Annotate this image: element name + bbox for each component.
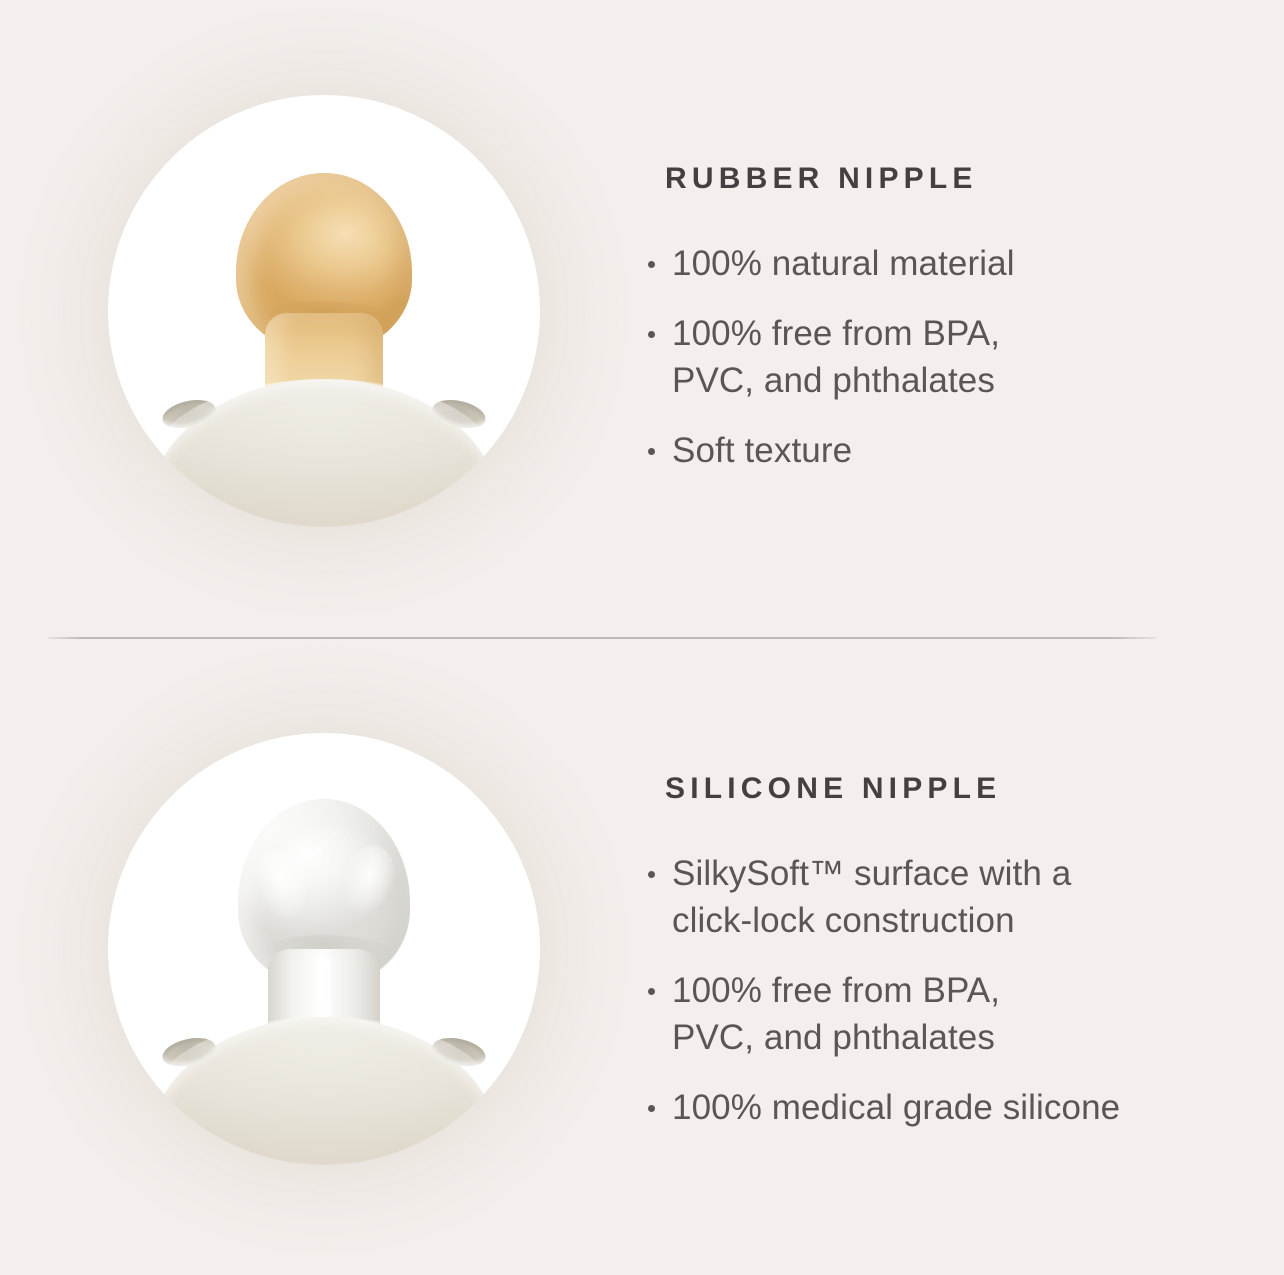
list-item-label: 100% natural material xyxy=(672,240,1222,287)
air-hole-left xyxy=(160,395,218,432)
list-item-label: SilkySoft™ surface with a click-lock con… xyxy=(672,850,1222,944)
list-item-label: 100% free from BPA, PVC, and phthalates xyxy=(672,967,1222,1061)
list-item: SilkySoft™ surface with a click-lock con… xyxy=(642,850,1222,944)
silicone-feature-list: SilkySoft™ surface with a click-lock con… xyxy=(642,850,1222,1131)
silicone-pacifier-photo xyxy=(108,733,540,1165)
list-item: Soft texture xyxy=(642,427,1222,474)
section-silicone-nipple: SILICONE NIPPLE SilkySoft™ surface with … xyxy=(0,638,1284,1275)
rubber-pacifier-photo xyxy=(108,95,540,527)
page-title-silicone: SILICONE NIPPLE xyxy=(665,772,1001,806)
bullet-dot-icon xyxy=(648,988,655,995)
list-item: 100% medical grade silicone xyxy=(642,1084,1222,1131)
section-rubber-nipple: RUBBER NIPPLE 100% natural material 100%… xyxy=(0,0,1284,637)
rubber-feature-list: 100% natural material 100% free from BPA… xyxy=(642,240,1222,474)
product-comparison-page: RUBBER NIPPLE 100% natural material 100%… xyxy=(0,0,1284,1275)
list-item: 100% free from BPA, PVC, and phthalates xyxy=(642,310,1222,404)
page-title-rubber: RUBBER NIPPLE xyxy=(665,162,978,196)
bullet-dot-icon xyxy=(648,448,655,455)
list-item: 100% natural material xyxy=(642,240,1222,287)
bullet-dot-icon xyxy=(648,261,655,268)
pacifier-shield xyxy=(148,379,500,527)
pacifier-shield xyxy=(148,1017,500,1165)
air-hole-right xyxy=(430,1033,488,1070)
list-item: 100% free from BPA, PVC, and phthalates xyxy=(642,967,1222,1061)
bullet-dot-icon xyxy=(648,331,655,338)
list-item-label: 100% free from BPA, PVC, and phthalates xyxy=(672,310,1222,404)
list-item-label: Soft texture xyxy=(672,427,1222,474)
bullet-dot-icon xyxy=(648,871,655,878)
air-hole-right xyxy=(430,395,488,432)
bullet-dot-icon xyxy=(648,1105,655,1112)
air-hole-left xyxy=(160,1033,218,1070)
list-item-label: 100% medical grade silicone xyxy=(672,1084,1222,1131)
